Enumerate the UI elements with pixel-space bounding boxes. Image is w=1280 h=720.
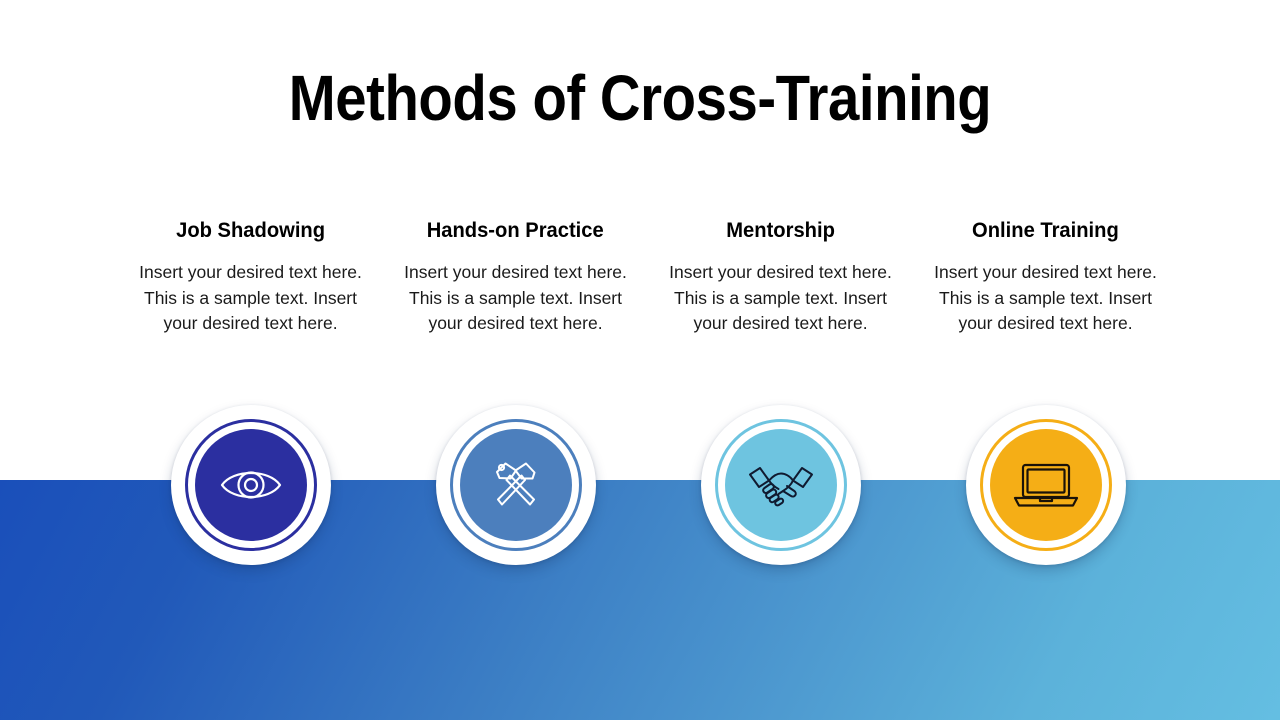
icon-badge-online-training[interactable] <box>966 405 1126 565</box>
column-job-shadowing: Job Shadowing Insert your desired text h… <box>118 218 383 398</box>
column-body-text: Insert your desired text here. This is a… <box>400 260 632 337</box>
column-body-text: Insert your desired text here. This is a… <box>135 260 367 337</box>
column-body-text: Insert your desired text here. This is a… <box>665 260 897 337</box>
slide-title: Methods of Cross-Training <box>77 62 1203 134</box>
laptop-icon <box>1013 460 1079 510</box>
badge-slot-mentorship <box>648 405 913 570</box>
column-body-text: Insert your desired text here. This is a… <box>930 260 1162 337</box>
crossed-hammers-icon <box>485 454 547 516</box>
badge-slot-job-shadowing <box>118 405 383 570</box>
column-heading: Mentorship <box>726 218 835 244</box>
badge-disc <box>990 429 1102 541</box>
badge-disc <box>195 429 307 541</box>
badge-disc <box>460 429 572 541</box>
icon-badge-mentorship[interactable] <box>701 405 861 565</box>
columns-text-row: Job Shadowing Insert your desired text h… <box>118 218 1178 398</box>
column-online-training: Online Training Insert your desired text… <box>913 218 1178 398</box>
column-heading: Hands-on Practice <box>427 218 604 244</box>
icon-badge-row <box>118 405 1178 570</box>
column-mentorship: Mentorship Insert your desired text here… <box>648 218 913 398</box>
eye-icon <box>219 463 283 507</box>
column-heading: Job Shadowing <box>176 218 325 244</box>
icon-badge-hands-on-practice[interactable] <box>436 405 596 565</box>
badge-disc <box>725 429 837 541</box>
handshake-icon <box>747 461 815 509</box>
slide-canvas: Methods of Cross-Training Job Shadowing … <box>0 0 1280 720</box>
badge-slot-hands-on-practice <box>383 405 648 570</box>
icon-badge-job-shadowing[interactable] <box>171 405 331 565</box>
badge-slot-online-training <box>913 405 1178 570</box>
column-hands-on-practice: Hands-on Practice Insert your desired te… <box>383 218 648 398</box>
column-heading: Online Training <box>972 218 1119 244</box>
